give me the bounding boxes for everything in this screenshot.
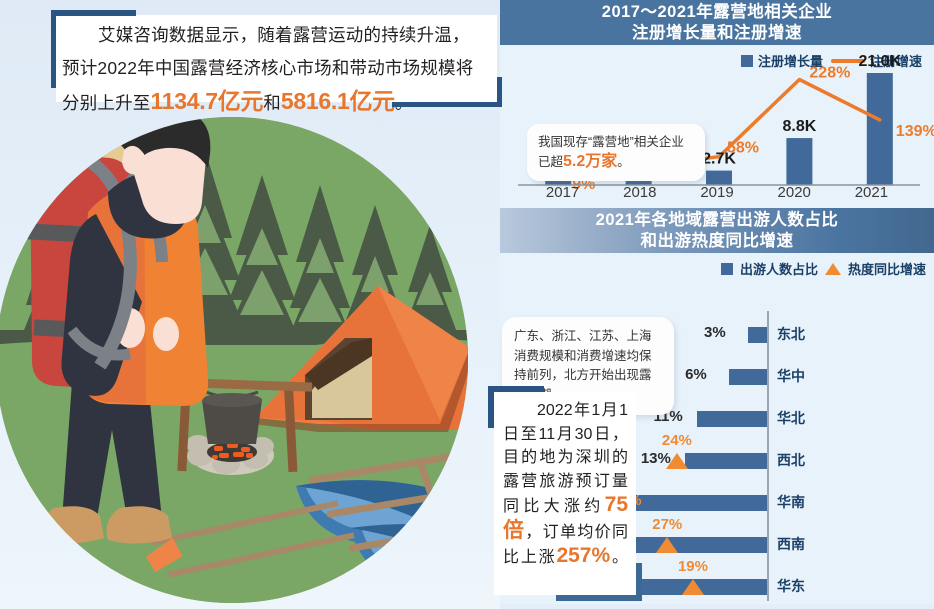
note1-highlight: 5.2万家	[563, 153, 617, 170]
growth-marker-西北	[666, 453, 688, 469]
panel1-title-line2: 注册增长量和注册增速	[632, 23, 802, 44]
region-label-东北: 东北	[777, 324, 805, 344]
panel1-title-line1: 2017～2021年露营地相关企业	[602, 2, 832, 23]
hand-back	[153, 317, 179, 351]
panel1-chart-area: 注册增长量 注册增速 1.2K1.7K2.7K8.8K21.0K 9%36%58…	[500, 45, 934, 208]
lead-line-1: 艾媒咨询数据显示，随着露营运动的持续升温，	[56, 15, 497, 48]
region-label-华南: 华南	[777, 492, 805, 512]
quote-line-6: 同比大涨约	[503, 498, 605, 515]
lead-line-2: 预计2022年中国露营经济核心市场和带动市场规模将	[56, 48, 497, 81]
lead-line-3-mid: 和	[263, 93, 281, 113]
lead-figure-driven-market: 5816.1亿元	[281, 88, 395, 114]
lead-line-3: 分别上升至1134.7亿元和5816.1亿元。	[56, 81, 497, 116]
share-bar-华中	[729, 369, 767, 385]
panel2-legend: 出游人数占比 热度同比增速	[721, 259, 926, 278]
panel1-note-bubble: 我国现存“露营地”相关企业已超5.2万家。	[527, 124, 705, 181]
legend2-bar-swatch-icon	[721, 263, 733, 275]
infographic-root: 艾媒咨询数据显示，随着露营运动的持续升温， 预计2022年中国露营经济核心市场和…	[0, 0, 934, 609]
growth-value-西北: 24%	[662, 432, 692, 449]
x-tick-2017: 2017	[524, 184, 601, 206]
lead-line-3-pre: 分别上升至	[62, 93, 151, 113]
boot-right	[107, 506, 173, 543]
box-accent-bottom	[392, 102, 502, 107]
legend2-triangle-swatch-icon	[825, 263, 841, 275]
region-label-华东: 华东	[777, 576, 805, 596]
share-bar-西南	[634, 537, 767, 553]
line-label-2020: 228%	[809, 65, 850, 82]
x-tick-2019: 2019	[678, 184, 755, 206]
quote-line-7: ，订单	[525, 524, 577, 541]
share-value-华中: 6%	[685, 366, 707, 383]
share-bar-西北	[685, 453, 767, 469]
box-accent-top	[56, 10, 136, 16]
quote-accent-left	[488, 386, 494, 428]
legend2-bar-label: 出游人数占比	[740, 259, 818, 278]
bar-label-2021: 21.0K	[858, 53, 901, 70]
quote-body: 2022年1月1日至11月30日，目的地为深圳的露营旅游预订量同比大涨约75倍，…	[494, 392, 636, 570]
quote-highlight-257pct: 257%	[556, 544, 610, 567]
growth-value-华东: 19%	[678, 558, 708, 575]
region-label-西南: 西南	[777, 534, 805, 554]
quote-line-9: 。	[610, 549, 628, 566]
growth-marker-华东	[682, 579, 704, 595]
growth-marker-西南	[656, 537, 678, 553]
x-tick-2018: 2018	[601, 184, 678, 206]
x-tick-2020: 2020	[756, 184, 833, 206]
line-label-2021: 139%	[896, 123, 934, 140]
bar-2021	[867, 73, 893, 185]
share-value-东北: 3%	[704, 324, 726, 341]
legend2-tri-label: 热度同比增速	[848, 259, 926, 278]
growth-value-西南: 27%	[652, 516, 682, 533]
line-label-2019: 58%	[727, 140, 759, 157]
share-bar-华南	[634, 495, 767, 511]
panel1-header: 2017～2021年露营地相关企业 注册增长量和注册增速	[500, 0, 934, 45]
bar-2020	[786, 138, 812, 185]
panel-registrations: 2017～2021年露营地相关企业 注册增长量和注册增速 注册增长量 注册增速 …	[500, 0, 934, 208]
bar-label-2020: 8.8K	[783, 118, 817, 135]
x-tick-2021: 2021	[833, 184, 910, 206]
shenzhen-quote-box: 2022年1月1日至11月30日，目的地为深圳的露营旅游预订量同比大涨约75倍，…	[494, 392, 636, 595]
boot-left	[41, 506, 105, 543]
panel1-x-axis-labels: 2017 2018 2019 2020 2021	[500, 184, 934, 206]
bar-2019	[706, 171, 732, 185]
share-bar-华北	[697, 411, 767, 427]
lead-figure-core-market: 1134.7亿元	[151, 88, 264, 114]
quote-line-5: 营旅游预订量	[521, 473, 628, 490]
quote-accent-bottom	[556, 595, 642, 601]
region-label-华北: 华北	[777, 408, 805, 428]
region-label-华中: 华中	[777, 366, 805, 386]
region-label-西北: 西北	[777, 450, 805, 470]
quote-accent-top	[488, 386, 544, 392]
share-bar-东北	[748, 327, 767, 343]
quote-line-1: 2022年	[503, 402, 591, 419]
note1-text-post: 。	[617, 155, 630, 169]
panel2-header: 2021年各地域露营出游人数占比 和出游热度同比增速	[500, 208, 934, 253]
panel2-title-line1: 2021年各地域露营出游人数占比	[596, 210, 839, 231]
lead-text-box: 艾媒咨询数据显示，随着露营运动的持续升温， 预计2022年中国露营经济核心市场和…	[56, 15, 497, 102]
box-accent-left	[51, 10, 56, 88]
panel2-title-line2: 和出游热度同比增速	[641, 231, 794, 252]
